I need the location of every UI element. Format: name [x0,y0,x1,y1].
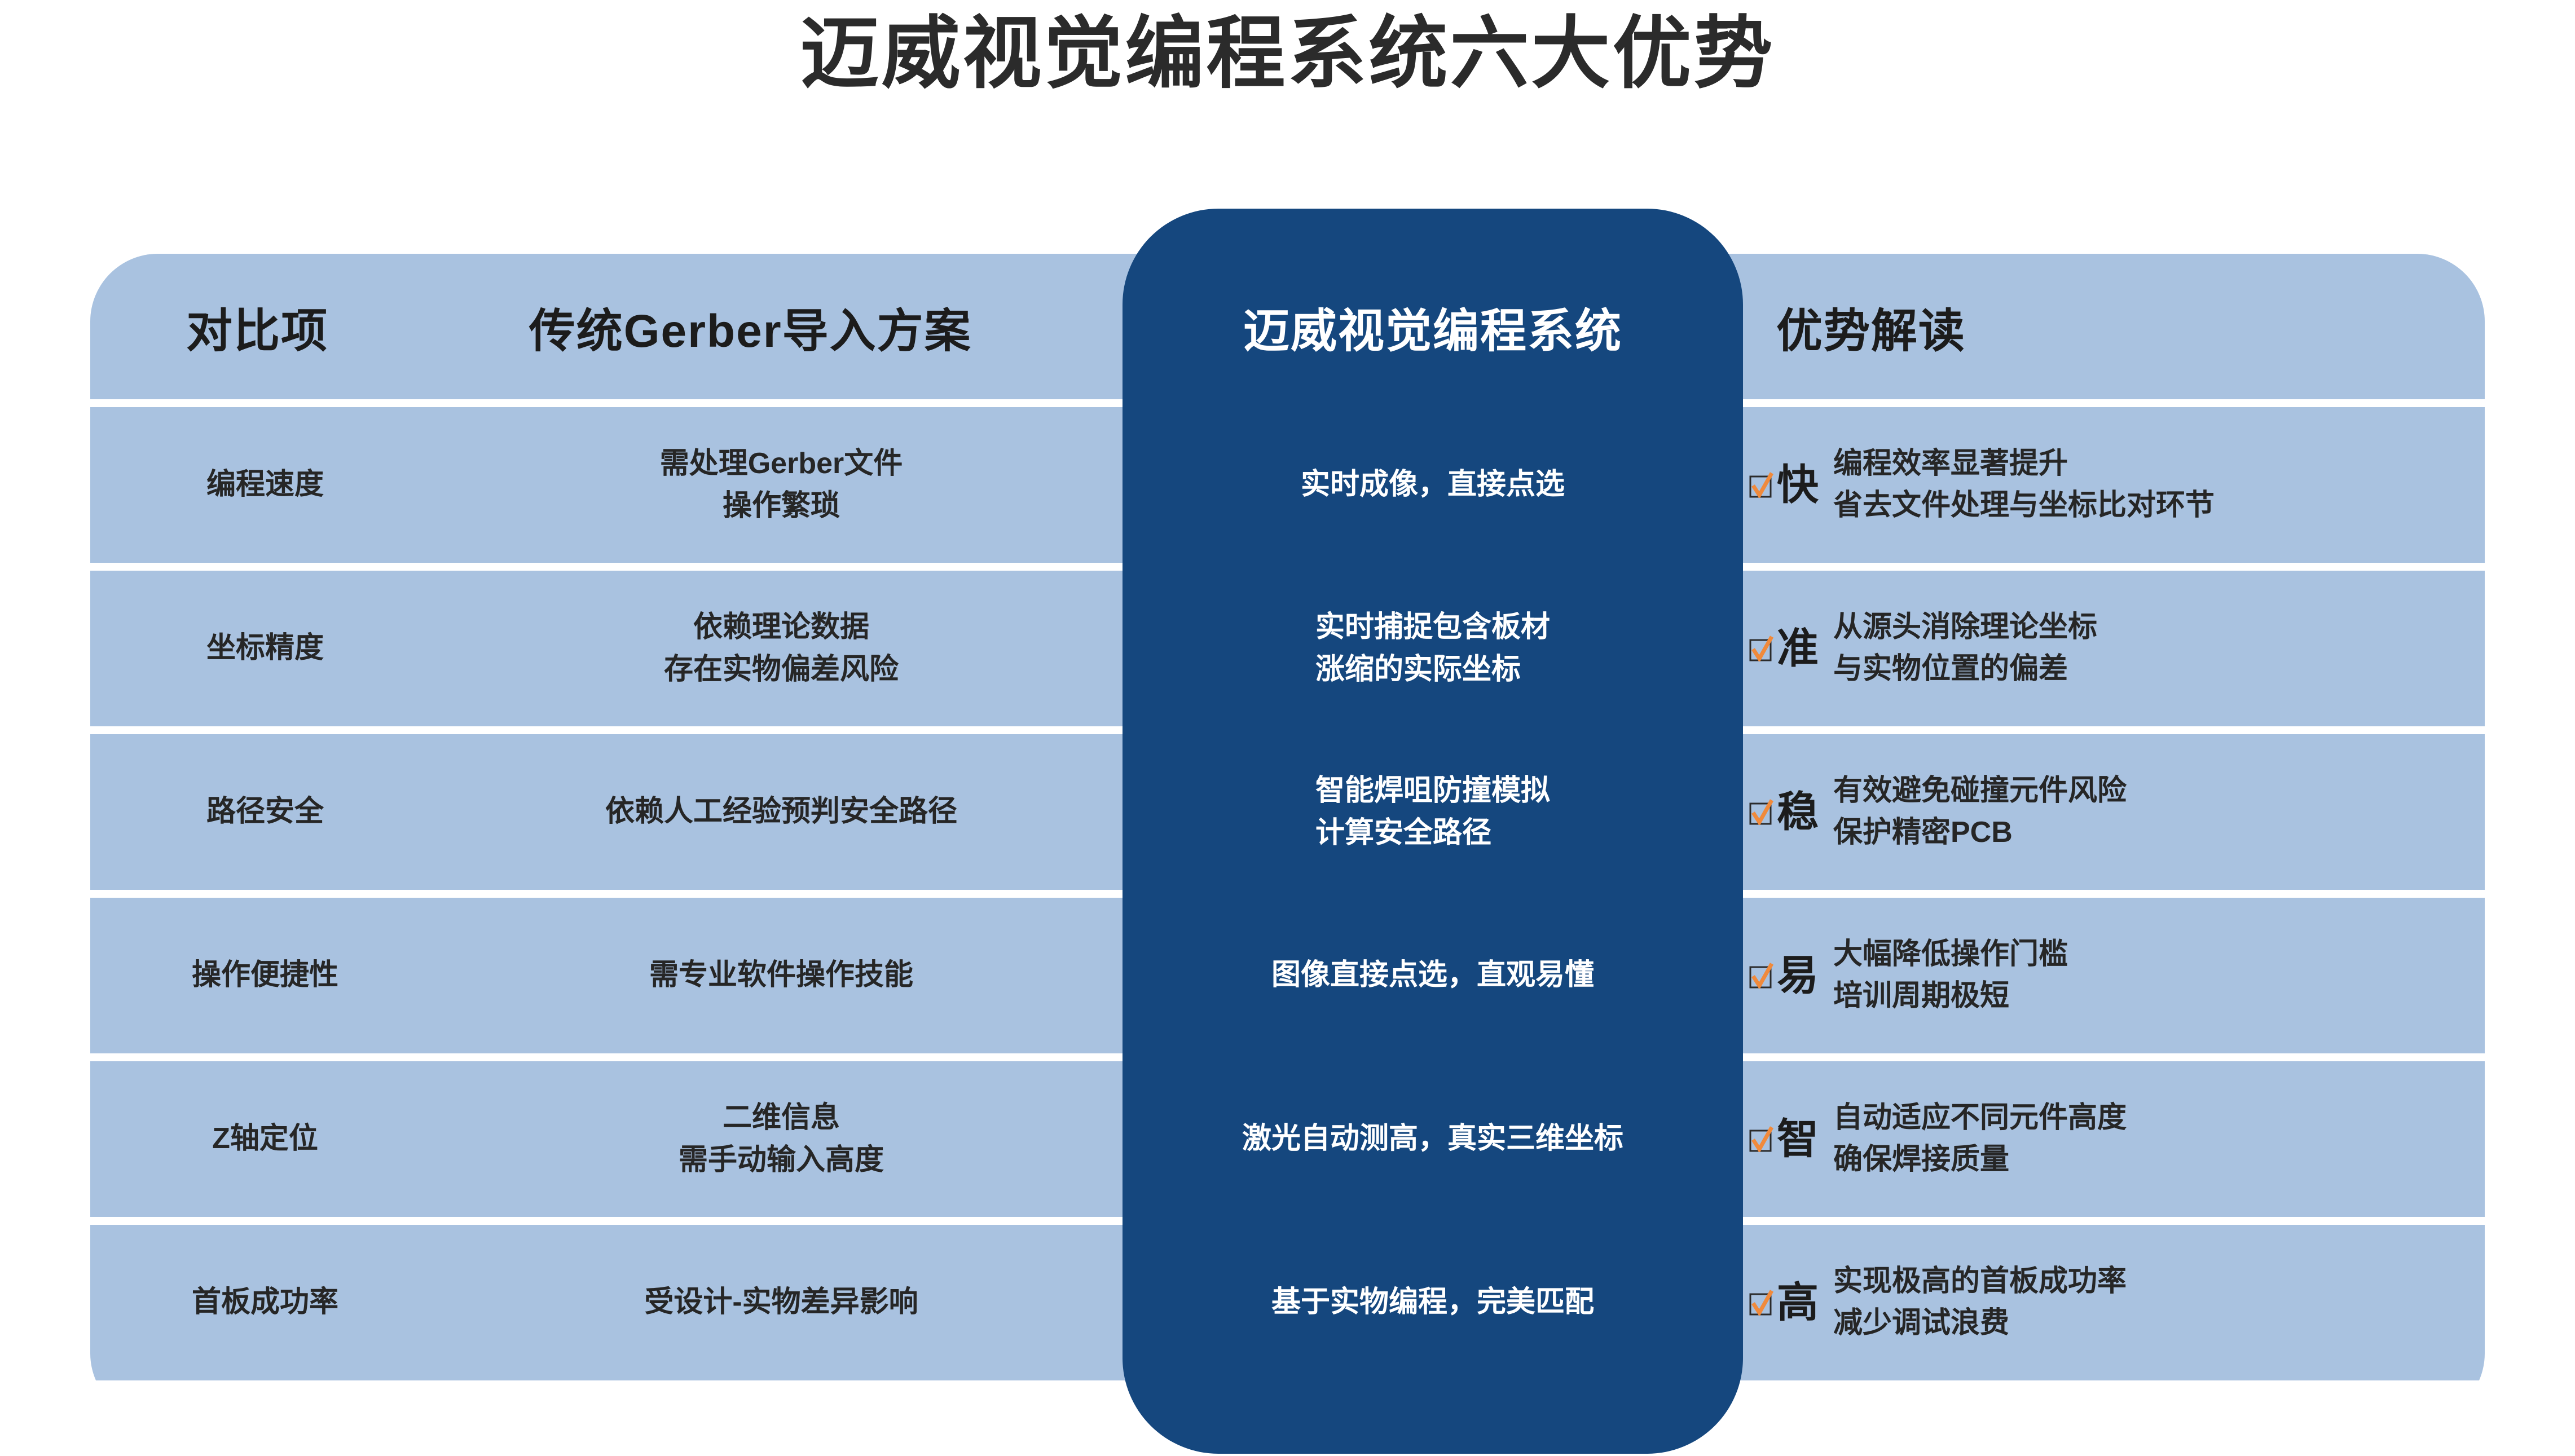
cell-item: 编程速度 [90,407,440,563]
cell-advantage: 易 大幅降低操作门槛 培训周期极短 [1743,898,2485,1053]
text-line: 从源头消除理论坐标 [1833,607,2097,648]
cell-item: 路径安全 [90,734,440,890]
checkbox-checked-icon [1749,636,1775,661]
traditional-text: 受设计-实物差异影响 [644,1281,918,1323]
text-line: 编程效率显著提升 [1833,443,2215,485]
cell-advantage: 快 编程效率显著提升 省去文件处理与坐标比对环节 [1743,407,2485,563]
cell-advantage: 智 自动适应不同元件高度 确保焊接质量 [1743,1061,2485,1217]
advantage-badge: 快 [1749,464,1819,506]
text-line: 培训周期极短 [1833,976,2068,1017]
cell-advantage: 稳 有效避免碰撞元件风险 保护精密PCB [1743,734,2485,890]
traditional-text: 依赖人工经验预判安全路径 [605,791,957,833]
cell-item: 坐标精度 [90,571,440,726]
text-line: 与实物位置的偏差 [1833,648,2097,690]
cell-advantage: 高 实现极高的首板成功率 减少调试浪费 [1743,1225,2485,1380]
cell-advantage: 准 从源头消除理论坐标 与实物位置的偏差 [1743,571,2485,726]
header-label-traditional: 传统Gerber导入方案 [529,293,972,360]
header-label-advantage: 优势解读 [1776,293,1966,360]
advantage-description: 大幅降低操作门槛 培训周期极短 [1833,934,2068,1017]
text-line: 需专业软件操作技能 [649,954,913,996]
text-line: 有效避免碰撞元件风险 [1833,770,2127,812]
highlight-column-background [1123,209,1743,1454]
advantage-keyword: 快 [1777,464,1819,506]
text-line: 存在实物偏差风险 [664,648,899,691]
advantage-keyword: 准 [1777,628,1819,669]
advantage-badge: 智 [1749,1118,1819,1160]
page-title: 迈威视觉编程系统六大优势 [0,8,2575,99]
text-line: 受设计-实物差异影响 [644,1281,918,1323]
text-line: 二维信息 [679,1097,884,1139]
item-label: 编程速度 [206,464,324,506]
advantage-keyword: 高 [1777,1282,1819,1323]
cell-traditional: 依赖人工经验预判安全路径 [440,734,1123,890]
cell-traditional: 需处理Gerber文件 操作繁琐 [440,407,1123,563]
item-label: 坐标精度 [206,627,324,669]
cell-traditional: 二维信息 需手动输入高度 [440,1061,1123,1217]
text-line: 需手动输入高度 [679,1139,884,1181]
cell-traditional: 依赖理论数据 存在实物偏差风险 [440,571,1123,726]
text-line: 依赖人工经验预判安全路径 [605,791,957,833]
advantage-description: 从源头消除理论坐标 与实物位置的偏差 [1833,607,2097,690]
text-line: 操作繁琐 [660,485,903,527]
cell-traditional: 受设计-实物差异影响 [440,1225,1123,1380]
advantage-keyword: 智 [1777,1118,1819,1160]
advantage-description: 实现极高的首板成功率 减少调试浪费 [1833,1261,2127,1344]
checkbox-checked-icon [1749,799,1775,825]
text-line: 确保焊接质量 [1833,1139,2127,1181]
advantage-badge: 易 [1749,955,1819,996]
text-line: 保护精密PCB [1833,812,2127,854]
column-header-advantage: 优势解读 [1669,254,2485,399]
checkbox-checked-icon [1749,1290,1775,1316]
text-line: 省去文件处理与坐标比对环节 [1833,485,2215,527]
column-header-traditional: 传统Gerber导入方案 [424,254,1076,399]
checkbox-checked-icon [1749,963,1775,989]
cell-item: 首板成功率 [90,1225,440,1380]
traditional-text: 依赖理论数据 存在实物偏差风险 [664,606,899,691]
checkbox-checked-icon [1749,472,1775,498]
cell-traditional: 需专业软件操作技能 [440,898,1123,1053]
traditional-text: 需处理Gerber文件 操作繁琐 [660,443,903,528]
item-label: Z轴定位 [212,1118,318,1160]
traditional-text: 二维信息 需手动输入高度 [679,1097,884,1182]
advantage-badge: 高 [1749,1282,1819,1323]
advantage-keyword: 易 [1777,955,1819,996]
advantage-badge: 准 [1749,628,1819,669]
column-header-item: 对比项 [90,254,424,399]
text-line: 自动适应不同元件高度 [1833,1097,2127,1139]
text-line: 实现极高的首板成功率 [1833,1261,2127,1303]
item-label: 首板成功率 [192,1281,338,1323]
text-line: 大幅降低操作门槛 [1833,934,2068,976]
advantage-description: 有效避免碰撞元件风险 保护精密PCB [1833,770,2127,854]
item-label: 路径安全 [206,791,324,833]
cell-item: Z轴定位 [90,1061,440,1217]
text-line: 减少调试浪费 [1833,1303,2127,1344]
header-label-item: 对比项 [186,293,328,360]
item-label: 操作便捷性 [192,954,338,996]
advantage-description: 自动适应不同元件高度 确保焊接质量 [1833,1097,2127,1181]
checkbox-checked-icon [1749,1126,1775,1152]
traditional-text: 需专业软件操作技能 [649,954,913,996]
cell-item: 操作便捷性 [90,898,440,1053]
text-line: 依赖理论数据 [664,606,899,648]
comparison-table: 对比项 传统Gerber导入方案 优势解读 编程速度 需处理Gerber文件 [90,254,2485,1421]
text-line: 需处理Gerber文件 [660,443,903,485]
advantage-description: 编程效率显著提升 省去文件处理与坐标比对环节 [1833,443,2215,527]
advantage-badge: 稳 [1749,791,1819,833]
advantage-keyword: 稳 [1777,791,1819,833]
